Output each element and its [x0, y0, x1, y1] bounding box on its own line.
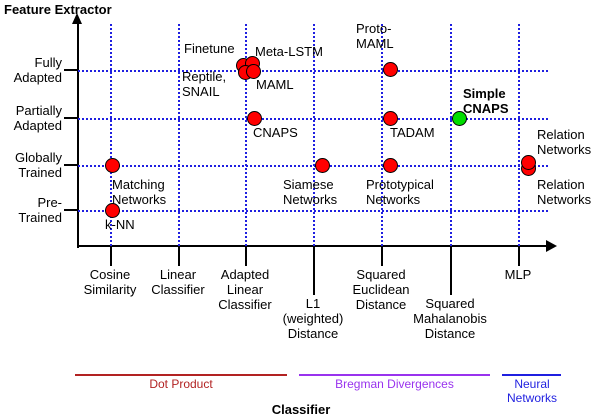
- legend-label-neural-networks: Neural Networks: [496, 377, 568, 405]
- y-tick-pre-trained: [64, 209, 78, 211]
- y-tick-label-fully-adapted: Fully Adapted: [14, 55, 62, 85]
- point-label-proto-maml: Proto- MAML: [356, 21, 394, 51]
- gridline-v-squared-mahalanobis-distance: [450, 24, 452, 246]
- x-tick-linear-classifier: [178, 247, 180, 266]
- point-label-prototypical-networks: Prototypical Networks: [366, 177, 434, 207]
- x-tick-mlp: [518, 247, 520, 266]
- x-tick-l1-distance: [313, 247, 315, 295]
- point-label-matching-networks: Matching Networks: [112, 177, 166, 207]
- legend-bar-dot-product: [75, 374, 287, 376]
- y-tick-partially-adapted: [64, 117, 78, 119]
- data-point-tadam[interactable]: [383, 111, 398, 126]
- data-point-proto-maml[interactable]: [383, 62, 398, 77]
- y-axis-arrow-icon: [72, 13, 82, 24]
- y-axis-title: Feature Extractor: [4, 2, 112, 17]
- legend-label-dot-product: Dot Product: [75, 377, 287, 391]
- x-tick-squared-euclidean-distance: [381, 247, 383, 266]
- x-tick-cosine-similarity: [110, 247, 112, 266]
- gridline-h-pre-trained: [78, 210, 548, 212]
- gridline-h-globally-trained: [78, 165, 548, 167]
- y-tick-label-partially-adapted: Partially Adapted: [14, 103, 62, 133]
- point-label-cnaps: CNAPS: [253, 125, 298, 140]
- gridline-v-squared-euclidean-distance: [381, 24, 383, 246]
- data-point-siamese-networks[interactable]: [315, 158, 330, 173]
- x-tick-label-squared-mahalanobis-distance: Squared Mahalanobis Distance: [400, 296, 500, 341]
- point-label-maml: MAML: [256, 77, 294, 92]
- y-tick-label-pre-trained: Pre- Trained: [18, 195, 62, 225]
- y-tick-globally-trained: [64, 164, 78, 166]
- x-axis-arrow-icon: [546, 240, 557, 252]
- gridline-h-partially-adapted: [78, 118, 548, 120]
- legend-bar-neural-networks: [502, 374, 561, 376]
- chart-canvas: Feature Extractor Fully Adapted Partiall…: [0, 0, 602, 420]
- point-label-relation-networks-bottom: Relation Networks: [537, 177, 591, 207]
- x-tick-label-mlp: MLP: [470, 267, 566, 282]
- point-label-finetune: Finetune: [184, 41, 235, 56]
- point-label-reptile-snail: Reptile, SNAIL: [182, 69, 226, 99]
- x-axis-title: Classifier: [0, 402, 602, 417]
- x-tick-squared-mahalanobis-distance: [450, 247, 452, 295]
- y-axis-line: [77, 22, 79, 248]
- gridline-v-linear-classifier: [178, 24, 180, 246]
- point-label-tadam: TADAM: [390, 125, 435, 140]
- point-label-simple-cnaps: Simple CNAPS: [463, 86, 509, 116]
- legend-label-bregman-divergences: Bregman Divergences: [299, 377, 490, 391]
- data-point-cnaps[interactable]: [247, 111, 262, 126]
- data-point-matching-networks[interactable]: [105, 158, 120, 173]
- data-point-prototypical-networks[interactable]: [383, 158, 398, 173]
- point-label-knn: k-NN: [105, 217, 135, 232]
- legend-bar-bregman-divergences: [299, 374, 490, 376]
- y-tick-fully-adapted: [64, 69, 78, 71]
- point-label-relation-networks-top: Relation Networks: [537, 127, 591, 157]
- x-tick-adapted-linear-classifier: [245, 247, 247, 266]
- gridline-v-mlp: [518, 24, 520, 246]
- data-point-relation-networks-upper[interactable]: [521, 155, 536, 170]
- point-label-siamese-networks: Siamese Networks: [283, 177, 337, 207]
- point-label-meta-lstm: Meta-LSTM: [255, 44, 323, 59]
- gridline-h-fully-adapted: [78, 70, 548, 72]
- y-tick-label-globally-trained: Globally Trained: [15, 150, 62, 180]
